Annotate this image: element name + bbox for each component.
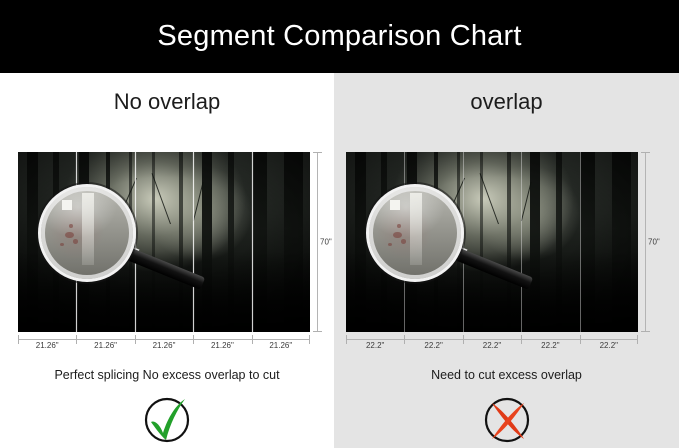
comparison-panels: No overlap (0, 73, 679, 448)
forest-image-no-overlap (18, 152, 310, 332)
segment-label: 22.2" (521, 341, 579, 350)
segment-label: 21.26" (252, 341, 310, 350)
segment-label: 21.26" (135, 341, 193, 350)
figure-overlap: 70" 22.2" 22.2" 22.2" 22.2" 22.2" (346, 152, 638, 359)
panel-no-overlap: No overlap (0, 73, 334, 448)
figure-no-overlap: 70" 21.26" 21.26" 21.26" 21.26" 21.26" (18, 152, 310, 359)
forest-image-overlap (346, 152, 638, 332)
height-dimension-no-overlap: 70" (310, 152, 332, 332)
segment-seams-overlap (346, 152, 638, 332)
red-cross-icon (479, 393, 535, 447)
segment-label: 21.26" (18, 341, 76, 350)
panel-heading-overlap: overlap (334, 89, 679, 115)
verdict-overlap (334, 393, 679, 447)
panel-overlap: overlap (334, 73, 679, 448)
segment-dimension-no-overlap: 21.26" 21.26" 21.26" 21.26" 21.26" (18, 335, 310, 359)
height-label-overlap: 70" (648, 238, 660, 247)
header-bar: Segment Comparison Chart (0, 0, 679, 73)
caption-no-overlap: Perfect splicing No excess overlap to cu… (0, 368, 334, 382)
green-check-icon (139, 393, 195, 447)
segment-label: 22.2" (463, 341, 521, 350)
segment-label: 22.2" (346, 341, 404, 350)
segment-seams-no-overlap (18, 152, 310, 332)
caption-overlap: Need to cut excess overlap (334, 368, 679, 382)
panel-heading-no-overlap: No overlap (0, 89, 334, 115)
verdict-no-overlap (0, 393, 334, 447)
height-label-no-overlap: 70" (320, 238, 332, 247)
height-dimension-overlap: 70" (638, 152, 660, 332)
segment-label: 22.2" (580, 341, 638, 350)
segment-dimension-overlap: 22.2" 22.2" 22.2" 22.2" 22.2" (346, 335, 638, 359)
page-title: Segment Comparison Chart (157, 20, 521, 53)
segment-label: 22.2" (404, 341, 462, 350)
segment-label: 21.26" (193, 341, 251, 350)
segment-label: 21.26" (76, 341, 134, 350)
